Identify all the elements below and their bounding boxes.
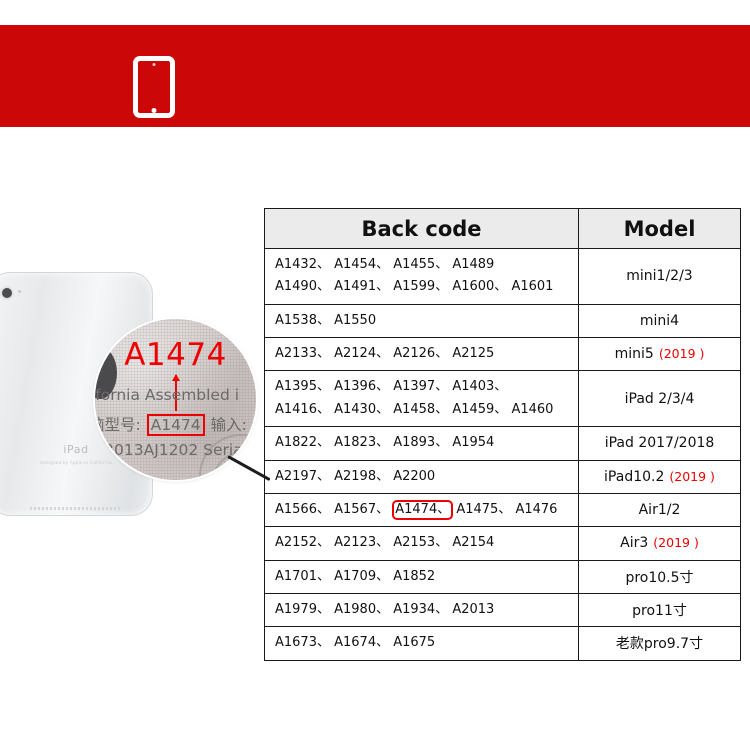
table-row: A1673、 A1674、 A1675老款pro9.7寸 <box>265 627 741 660</box>
table-row: A2152、 A2123、 A2153、 A2154Air3(2019 ) <box>265 527 741 560</box>
code-line: A1490、 A1491、 A1599、 A1600、 A1601 <box>275 276 578 298</box>
cell-back-code: A1673、 A1674、 A1675 <box>265 627 579 660</box>
model-name: mini5 <box>615 346 654 362</box>
back-code-model-table: Back code Model A1432、 A1454、 A1455、 A14… <box>264 208 741 661</box>
speaker-grille <box>30 507 122 510</box>
cell-back-code: A1566、 A1567、 A1474、 A1475、 A1476 <box>265 493 579 526</box>
code-line: A2152、 A2123、 A2153、 A2154 <box>275 532 578 554</box>
cell-back-code: A1822、 A1823、 A1893、 A1954 <box>265 427 579 460</box>
tablet-icon-camera <box>153 63 156 66</box>
tablet-icon-home-button <box>152 108 157 113</box>
cell-model: mini5(2019 ) <box>579 338 741 371</box>
model-name: mini4 <box>640 313 679 329</box>
model-year-badge: (2019 ) <box>659 346 705 361</box>
cell-model: iPad10.2(2019 ) <box>579 460 741 493</box>
cell-back-code: A1979、 A1980、 A1934、 A2013 <box>265 593 579 626</box>
model-name: iPad 2017/2018 <box>605 435 715 451</box>
code-line-rest: A1475、 A1476 <box>452 502 557 517</box>
engraved-code-box: A1474 <box>147 414 205 436</box>
model-name: Air1/2 <box>639 502 681 518</box>
model-year-badge: (2019 ) <box>669 469 715 484</box>
header-model: Model <box>579 209 741 249</box>
tablet-icon <box>133 56 175 118</box>
cell-model: pro10.5寸 <box>579 560 741 593</box>
table-row: A1395、 A1396、 A1397、 A1403、A1416、 A1430、… <box>265 371 741 427</box>
code-line: A2133、 A2124、 A2126、 A2125 <box>275 343 578 365</box>
model-name: mini1/2/3 <box>626 268 692 284</box>
engraved-line-1: ifornia Assembled i <box>95 386 239 404</box>
table-row: A1979、 A1980、 A1934、 A2013pro11寸 <box>265 593 741 626</box>
engraved-line-2: 脑型号: A1474 输入: <box>95 413 247 436</box>
magnifier-callout: A1474 ifornia Assembled i 脑型号: A1474 输入:… <box>95 319 256 480</box>
cell-back-code: A1701、 A1709、 A1852 <box>265 560 579 593</box>
top-red-banner <box>0 25 750 127</box>
header-back-code: Back code <box>265 209 579 249</box>
engraved-line-2-suffix: 输入: <box>211 416 247 434</box>
table-row: A1432、 A1454、 A1455、 A1489A1490、 A1491、 … <box>265 249 741 305</box>
page-root: iPad Designed by Apple in California A14… <box>0 0 750 750</box>
model-name: iPad10.2 <box>604 469 664 485</box>
model-year-badge: (2019 ) <box>653 535 699 550</box>
camera-icon <box>2 288 12 298</box>
cell-back-code: A1432、 A1454、 A1455、 A1489A1490、 A1491、 … <box>265 249 579 305</box>
cell-model: iPad 2017/2018 <box>579 427 741 460</box>
code-line: A1432、 A1454、 A1455、 A1489 <box>275 254 578 276</box>
cell-model: iPad 2/3/4 <box>579 371 741 427</box>
code-line: A1566、 A1567、 A1474、 A1475、 A1476 <box>275 499 578 521</box>
cell-model: mini4 <box>579 304 741 337</box>
code-line: A1822、 A1823、 A1893、 A1954 <box>275 432 578 454</box>
engraved-line-2-prefix: 脑型号: <box>95 416 141 434</box>
cell-model: pro11寸 <box>579 593 741 626</box>
table-row: A1566、 A1567、 A1474、 A1475、 A1476Air1/2 <box>265 493 741 526</box>
table-body: A1432、 A1454、 A1455、 A1489A1490、 A1491、 … <box>265 249 741 661</box>
cell-model: Air1/2 <box>579 493 741 526</box>
cell-model: Air3(2019 ) <box>579 527 741 560</box>
code-line: A1673、 A1674、 A1675 <box>275 632 578 654</box>
table-row: A1701、 A1709、 A1852pro10.5寸 <box>265 560 741 593</box>
code-line: A2197、 A2198、 A2200 <box>275 466 578 488</box>
code-line: A1701、 A1709、 A1852 <box>275 566 578 588</box>
model-name: Air3 <box>620 535 648 551</box>
model-name: iPad 2/3/4 <box>625 391 695 407</box>
cell-back-code: A1538、 A1550 <box>265 304 579 337</box>
highlighted-code: A1474、 <box>392 500 453 520</box>
cell-back-code: A2133、 A2124、 A2126、 A2125 <box>265 338 579 371</box>
callout-model-code: A1474 <box>95 337 256 373</box>
code-line: A1979、 A1980、 A1934、 A2013 <box>275 599 578 621</box>
cell-back-code: A1395、 A1396、 A1397、 A1403、A1416、 A1430、… <box>265 371 579 427</box>
table-row: A1822、 A1823、 A1893、 A1954iPad 2017/2018 <box>265 427 741 460</box>
cell-back-code: A2152、 A2123、 A2153、 A2154 <box>265 527 579 560</box>
table-row: A2133、 A2124、 A2126、 A2125mini5(2019 ) <box>265 338 741 371</box>
model-name: pro10.5寸 <box>625 570 693 586</box>
model-name: 老款pro9.7寸 <box>616 636 703 652</box>
table-header-row: Back code Model <box>265 209 741 249</box>
code-line: A1538、 A1550 <box>275 310 578 332</box>
cell-model: mini1/2/3 <box>579 249 741 305</box>
code-line: A1395、 A1396、 A1397、 A1403、 <box>275 376 578 398</box>
table-row: A2197、 A2198、 A2200iPad10.2(2019 ) <box>265 460 741 493</box>
microphone-icon <box>18 290 21 293</box>
cell-back-code: A2197、 A2198、 A2200 <box>265 460 579 493</box>
engraved-line-3: D:2013AJ1202 Seria <box>95 441 243 459</box>
table-row: A1538、 A1550mini4 <box>265 304 741 337</box>
model-name: pro11寸 <box>632 603 687 619</box>
cell-model: 老款pro9.7寸 <box>579 627 741 660</box>
code-line: A1416、 A1430、 A1458、 A1459、 A1460 <box>275 399 578 421</box>
